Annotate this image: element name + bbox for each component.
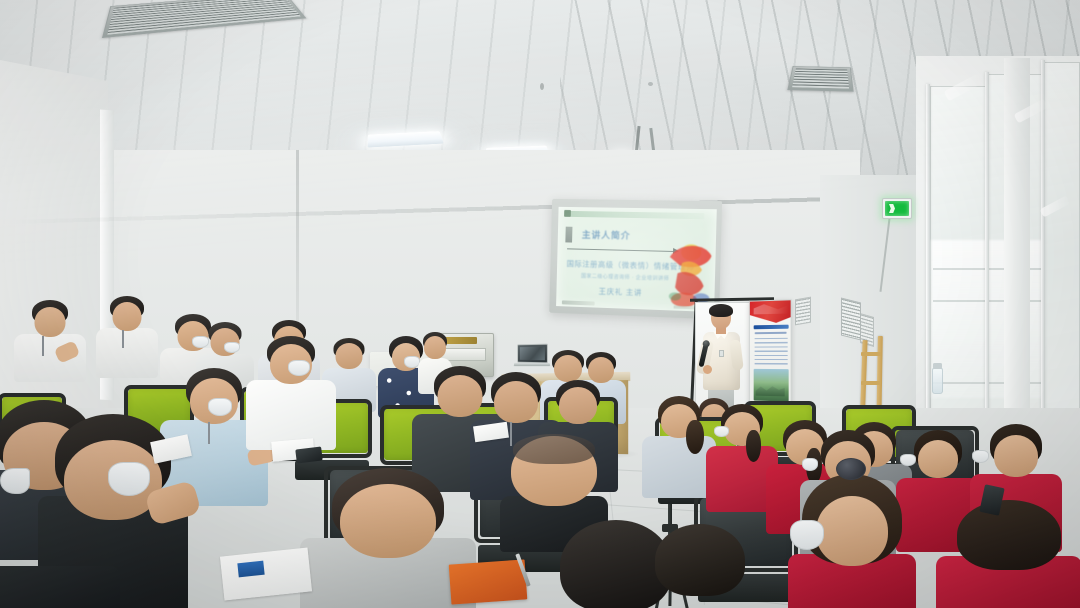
slide-body-line-2: 国家二级心理咨询师 · 企业培训讲师 [576, 272, 675, 282]
attendee-person [0, 556, 120, 608]
poster-photo [754, 369, 789, 402]
lanyard [122, 330, 124, 348]
attendee-person [96, 296, 158, 376]
attendee-person [14, 300, 86, 380]
face-mask [900, 454, 916, 466]
slide-title-accent [565, 227, 572, 243]
poster-subtitle-bar [755, 332, 787, 335]
ladder-step [861, 352, 881, 356]
face-mask [108, 462, 150, 496]
attendee-person [246, 336, 336, 446]
face-mask [0, 468, 30, 494]
poster-red-banner [750, 300, 792, 323]
document-label [237, 561, 264, 578]
poster-title-bar [754, 325, 789, 330]
conference-room-photo: 主讲人简介 国际注册高级（微表情）情绪管理师 国家二级心理咨询师 · 企业培训讲… [0, 0, 1080, 608]
air-vent-icon [787, 66, 853, 92]
face-mask [802, 458, 818, 471]
presenter-badge [719, 350, 724, 357]
standing-poster [749, 299, 792, 410]
attendee-person [652, 524, 748, 608]
wall-vent-icon [841, 298, 861, 341]
ceiling-sprinkler [540, 83, 544, 90]
slide-header-bar [564, 211, 704, 219]
exit-sign-icon [882, 198, 912, 219]
face-mask [224, 342, 240, 353]
face-mask [208, 398, 232, 416]
slide-body-line-3: 王庆礼 主讲 [581, 285, 660, 299]
wall-vent-icon [795, 297, 811, 326]
slide-arrow-icon [567, 248, 675, 252]
face-mask [714, 426, 729, 437]
slide-logo-icon [564, 210, 571, 217]
water-bottle [932, 368, 943, 394]
slide-footer-left [562, 300, 595, 305]
lanyard [42, 336, 44, 356]
face-mask [972, 450, 989, 463]
attendee-person-red-uniform [936, 500, 1080, 608]
face-mask [288, 360, 310, 376]
orange-notebook [449, 559, 528, 604]
hair-scrunchie [836, 458, 866, 480]
handout-document [220, 548, 312, 601]
lanyard [208, 422, 210, 444]
ladder-step [861, 381, 881, 385]
exit-running-man-glyph [885, 201, 909, 216]
bottle-cap [933, 363, 942, 369]
slide-title: 主讲人简介 [582, 228, 631, 242]
poster-text-block [755, 338, 788, 366]
ceiling-sensor [648, 82, 653, 86]
attendee-person-red-uniform [642, 396, 716, 492]
face-mask [790, 520, 824, 550]
